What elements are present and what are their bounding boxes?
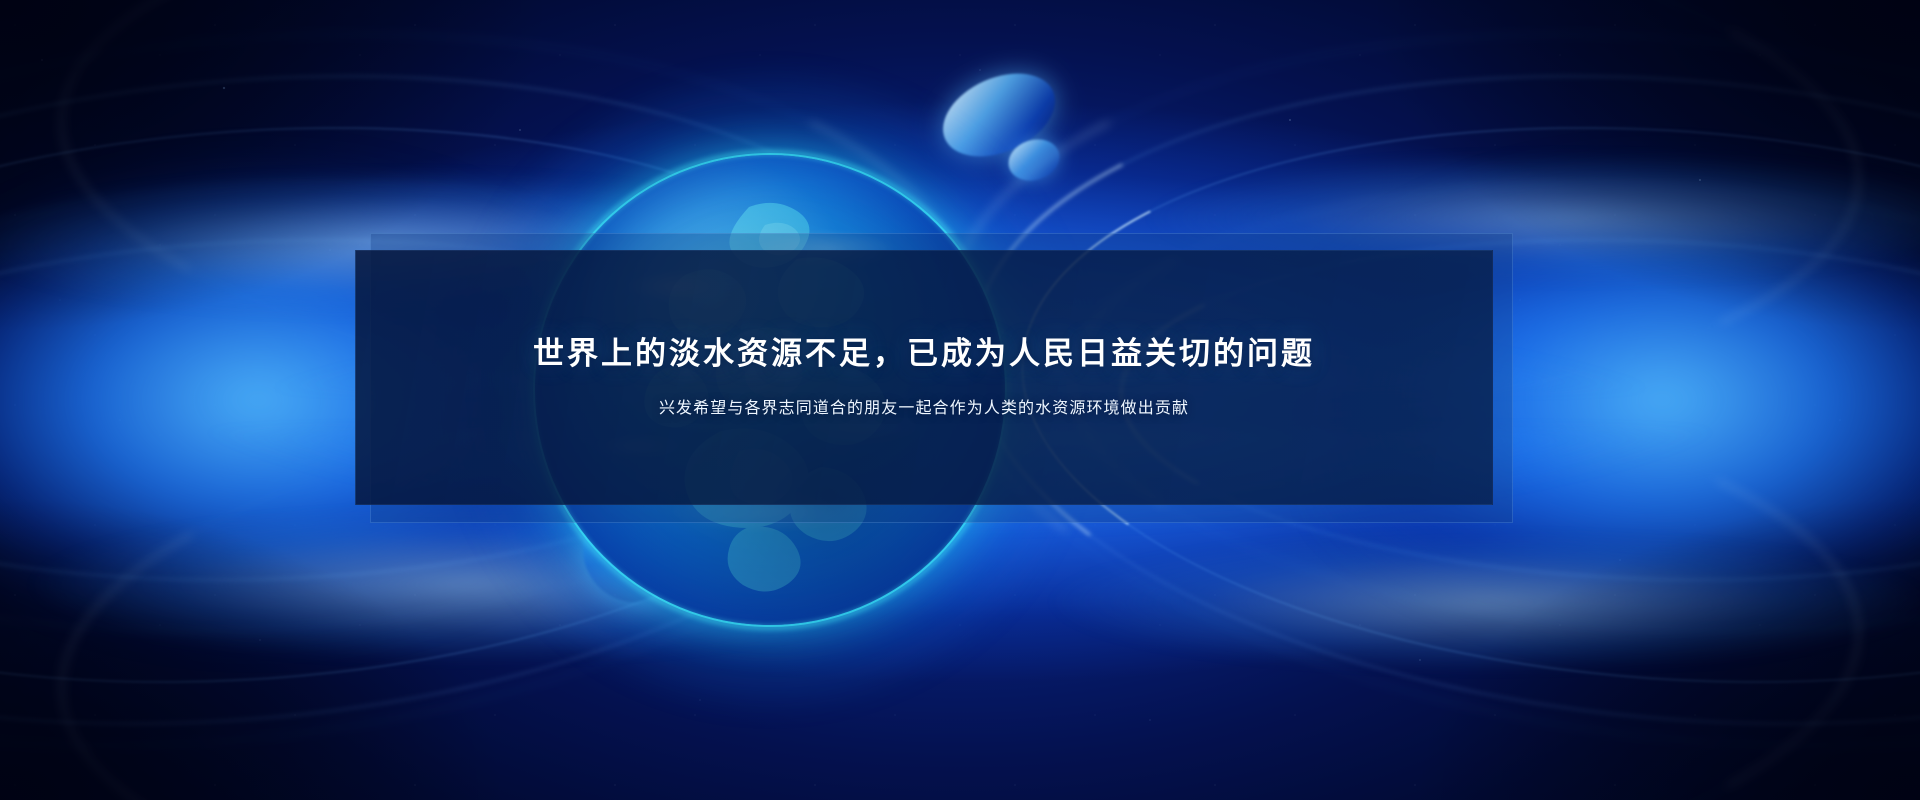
banner-subtitle: 兴发希望与各界志同道合的朋友一起合作为人类的水资源环境做出贡献 bbox=[659, 398, 1189, 420]
banner-headline: 世界上的淡水资源不足，已成为人民日益关切的问题 bbox=[533, 335, 1315, 372]
overlay-panel: 世界上的淡水资源不足，已成为人民日益关切的问题 兴发希望与各界志同道合的朋友一起… bbox=[355, 250, 1493, 505]
hero-banner: 世界上的淡水资源不足，已成为人民日益关切的问题 兴发希望与各界志同道合的朋友一起… bbox=[0, 0, 1920, 800]
